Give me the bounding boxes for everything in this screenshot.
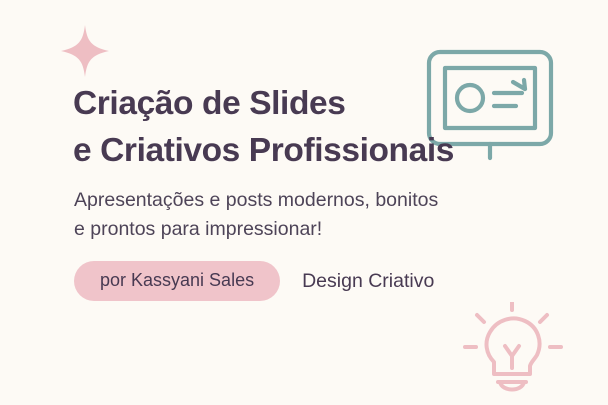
credit-row: por Kassyani Sales Design Criativo — [74, 261, 434, 301]
sparkle-icon — [61, 25, 109, 77]
lightbulb-icon — [458, 302, 568, 402]
subtitle: Apresentações e posts modernos, bonitos … — [74, 186, 544, 244]
promo-banner: Criação de Slides e Criativos Profission… — [0, 0, 608, 405]
page-title: Criação de Slides e Criativos Profission… — [73, 80, 553, 174]
subtitle-line-1: Apresentações e posts modernos, bonitos — [74, 189, 438, 211]
headline-line-2: e Criativos Profissionais — [73, 127, 553, 174]
headline-line-1: Criação de Slides — [73, 85, 346, 122]
tagline-label: Design Criativo — [302, 270, 434, 293]
subtitle-line-2: e prontos para impressionar! — [74, 215, 544, 244]
author-badge: por Kassyani Sales — [74, 261, 280, 301]
